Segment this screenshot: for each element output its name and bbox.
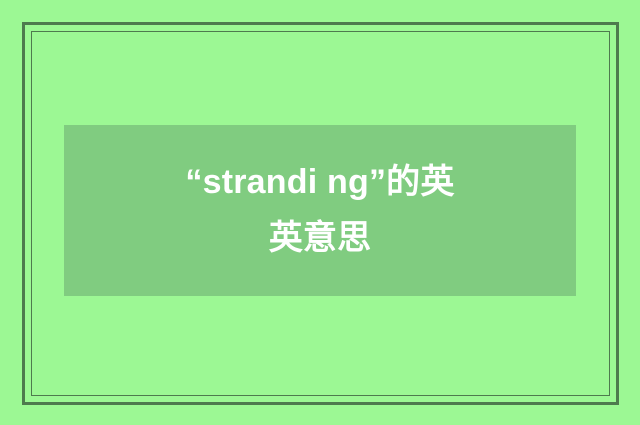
title-card: “strandi ng”的英英意思 — [64, 125, 576, 296]
page-canvas: “strandi ng”的英英意思 — [0, 0, 640, 425]
page-title: “strandi ng”的英英意思 — [182, 155, 458, 265]
